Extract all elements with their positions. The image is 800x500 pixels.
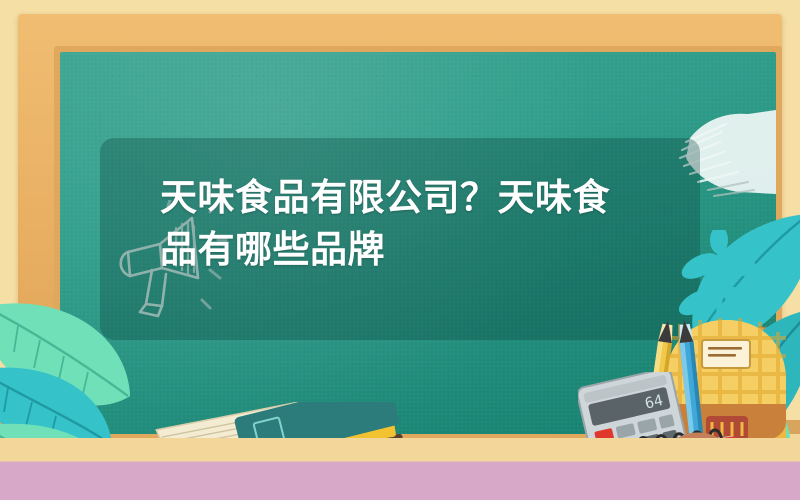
page-title: 天味食品有限公司？天味食 品有哪些品牌 (160, 172, 660, 276)
cover-image-stage: 天味食品有限公司？天味食 品有哪些品牌 (0, 0, 800, 500)
page-title-line-2: 品有哪些品牌 (160, 224, 660, 276)
page-title-line-1: 天味食品有限公司？天味食 (160, 172, 660, 224)
desk-front-edge (0, 438, 800, 500)
